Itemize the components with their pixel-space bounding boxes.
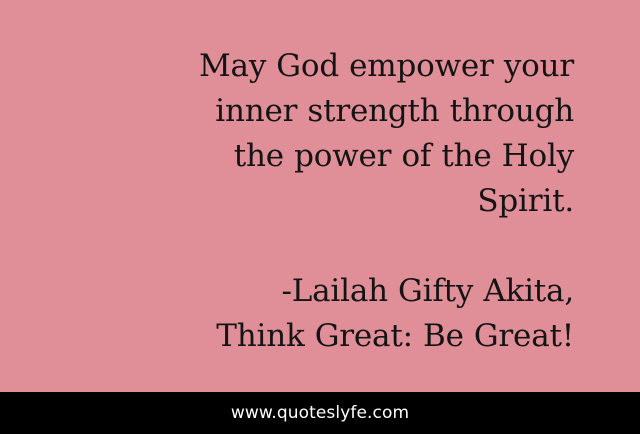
quote-attribution-spacer <box>66 224 574 269</box>
quote-content-area: May God empower your inner strength thro… <box>0 0 640 392</box>
quote-card: May God empower your inner strength thro… <box>0 0 640 434</box>
footer-bar: www.quoteslyfe.com <box>0 392 640 434</box>
footer-website-url: www.quoteslyfe.com <box>231 405 409 422</box>
quote-attribution: -Lailah Gifty Akita, Think Great: Be Gre… <box>66 269 574 359</box>
quote-text: May God empower your inner strength thro… <box>66 44 574 224</box>
